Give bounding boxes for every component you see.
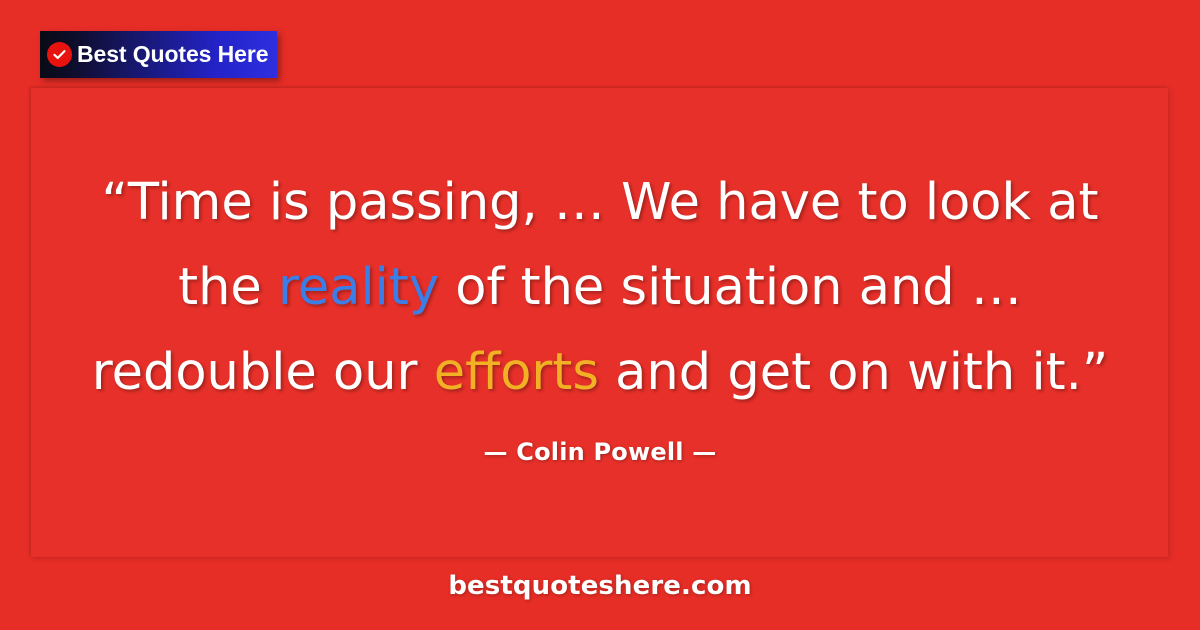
quote-block: “Time is passing, … We have to look at t… <box>60 160 1140 415</box>
quote-line-3: redouble our efforts and get on with it.… <box>60 330 1140 415</box>
quote-line-2-prefix: the <box>178 258 278 317</box>
brand-badge[interactable]: Best Quotes Here <box>40 31 277 78</box>
quote-poster: Best Quotes Here “Time is passing, … We … <box>0 0 1200 630</box>
brand-badge-label: Best Quotes Here <box>77 43 268 66</box>
quote-line-2-suffix: of the situation and … <box>439 258 1022 317</box>
quote-line-2: the reality of the situation and … <box>60 245 1140 330</box>
quote-line-3-suffix: and get on with it.” <box>599 343 1108 402</box>
quote-line-1: “Time is passing, … We have to look at <box>60 160 1140 245</box>
site-url-footer: bestquoteshere.com <box>0 571 1200 601</box>
quote-keyword-efforts: efforts <box>434 343 599 402</box>
quote-attribution: — Colin Powell — <box>0 438 1200 466</box>
quote-keyword-reality: reality <box>278 258 439 317</box>
quote-line-3-prefix: redouble our <box>92 343 434 402</box>
check-circle-icon <box>47 42 72 67</box>
quote-line-1-text: “Time is passing, … We have to look at <box>101 173 1098 232</box>
